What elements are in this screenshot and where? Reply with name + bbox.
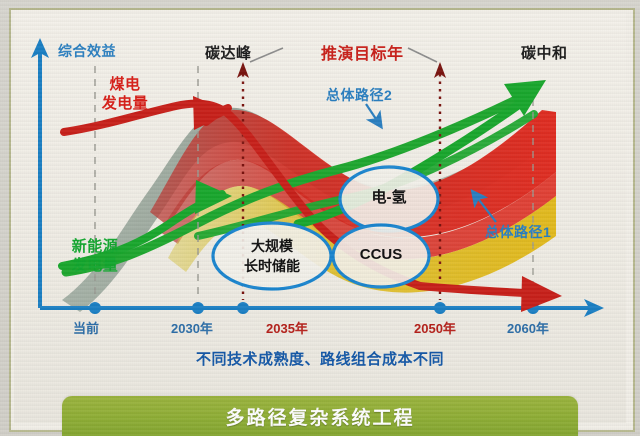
target-year-leader-right: [408, 48, 437, 62]
slide-caption: 不同技术成熟度、路线组合成本不同: [0, 348, 640, 369]
renewable-label-line2: 发电量: [58, 257, 132, 274]
carbon-peak-label: 碳达峰: [205, 42, 252, 63]
slide-root: 综合效益 煤电 发电量 新能源 发电量 碳达峰 推演目标年 碳中和 总体路径2 …: [0, 0, 640, 436]
x-tick-2035: 2035年: [266, 318, 308, 337]
coal-label-line2: 发电量: [88, 95, 162, 112]
renewable-label-line1: 新能源: [58, 238, 132, 255]
coal-label-line1: 煤电: [95, 76, 155, 93]
axis-y: [31, 38, 49, 308]
ellipse-label-storage-line2: 长时储能: [222, 258, 322, 274]
target-year-leader-left: [250, 48, 283, 62]
x-tick-2050: 2050年: [414, 318, 456, 337]
target-year-label: 推演目标年: [321, 40, 404, 64]
x-tick-2060: 2060年: [507, 318, 549, 337]
y-axis-label: 综合效益: [58, 41, 116, 61]
path2-label: 总体路径2: [326, 85, 392, 105]
path2-leader-arrow: [366, 104, 378, 122]
ellipse-label-ccus: CCUS: [341, 247, 421, 263]
bottom-banner: 多路径复杂系统工程: [62, 396, 578, 436]
diagram-canvas: [0, 0, 640, 436]
carbon-neutral-label: 碳中和: [521, 42, 568, 63]
axis-x: [40, 299, 604, 317]
x-tick-2030: 2030年: [171, 318, 213, 337]
banner-title: 多路径复杂系统工程: [62, 403, 578, 430]
ellipse-long-duration-storage[interactable]: [213, 223, 331, 289]
ellipse-label-electricity-hydrogen: 电-氢: [354, 190, 424, 206]
x-tick-current: 当前: [73, 318, 99, 337]
path1-label: 总体路径1: [485, 222, 551, 242]
ellipse-label-storage-line1: 大规模: [222, 238, 322, 254]
